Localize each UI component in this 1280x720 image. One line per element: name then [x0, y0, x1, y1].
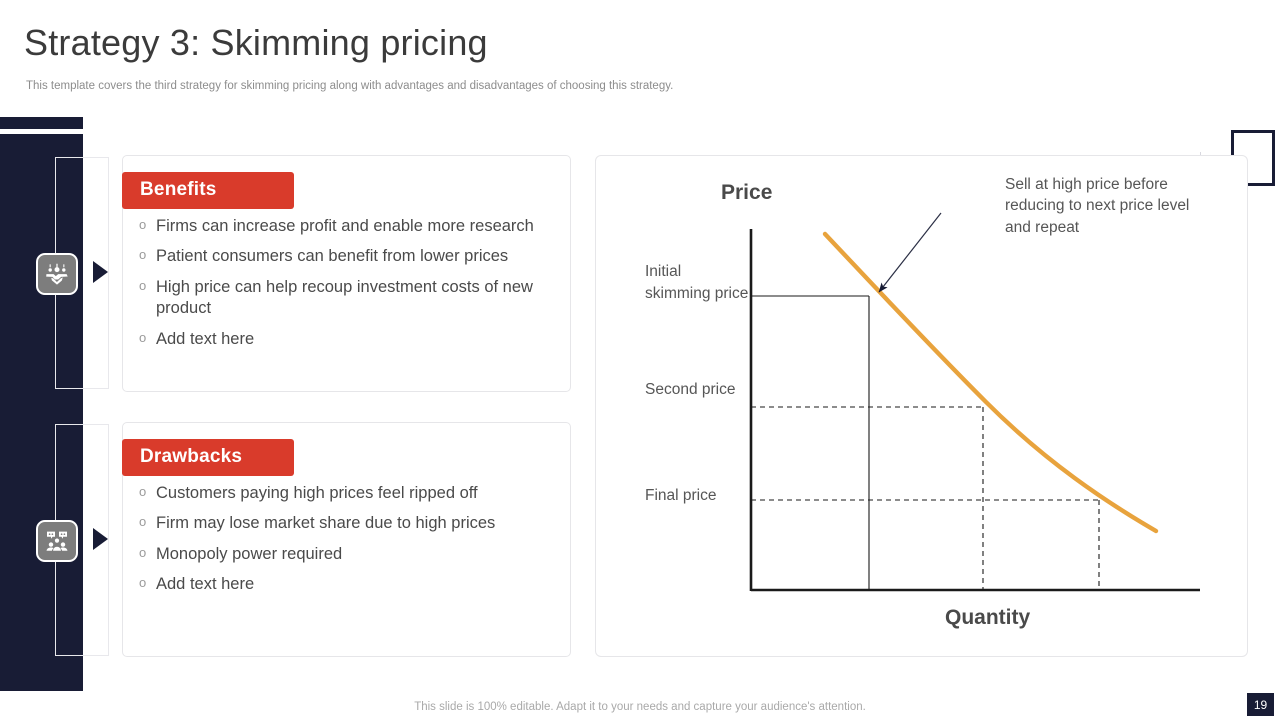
- navy-accent-bar-top: [0, 117, 83, 129]
- page-number-badge: 19: [1247, 693, 1274, 716]
- benefits-bullet-list: o Firms can increase profit and enable m…: [139, 216, 556, 359]
- footer-note: This slide is 100% editable. Adapt it to…: [0, 701, 1280, 713]
- benefits-heading: Benefits: [122, 172, 294, 209]
- list-item[interactable]: o Patient consumers can benefit from low…: [139, 246, 556, 267]
- list-item-label: Firms can increase profit and enable mor…: [156, 216, 556, 237]
- list-item[interactable]: o Monopoly power required: [139, 544, 556, 565]
- sidebar-arrow-benefits: [93, 261, 108, 283]
- bullet-marker-icon: o: [139, 574, 156, 593]
- chart-plot-area: [596, 156, 1247, 656]
- bullet-marker-icon: o: [139, 246, 156, 265]
- list-item-label: Add text here: [156, 329, 556, 350]
- list-item[interactable]: o Add text here: [139, 329, 556, 350]
- page-title: Strategy 3: Skimming pricing: [24, 22, 488, 64]
- handshake-icon[interactable]: [36, 253, 78, 295]
- page-subtitle: This template covers the third strategy …: [26, 80, 673, 92]
- bullet-marker-icon: o: [139, 329, 156, 348]
- chart-annotation-arrow: [879, 213, 941, 292]
- list-item[interactable]: o Add text here: [139, 574, 556, 595]
- list-item-label: Firm may lose market share due to high p…: [156, 513, 556, 534]
- list-item[interactable]: o High price can help recoup investment …: [139, 277, 556, 320]
- list-item-label: Add text here: [156, 574, 556, 595]
- list-item[interactable]: o Firms can increase profit and enable m…: [139, 216, 556, 237]
- bullet-marker-icon: o: [139, 483, 156, 502]
- list-item-label: High price can help recoup investment co…: [156, 277, 556, 320]
- benefits-card: Benefits o Firms can increase profit and…: [122, 155, 571, 392]
- drawbacks-bullet-list: o Customers paying high prices feel ripp…: [139, 483, 556, 605]
- bullet-marker-icon: o: [139, 216, 156, 235]
- list-item[interactable]: o Firm may lose market share due to high…: [139, 513, 556, 534]
- drawbacks-heading: Drawbacks: [122, 439, 294, 476]
- bullet-marker-icon: o: [139, 277, 156, 296]
- bullet-marker-icon: o: [139, 513, 156, 532]
- bullet-marker-icon: o: [139, 544, 156, 563]
- sidebar-arrow-drawbacks: [93, 528, 108, 550]
- list-item-label: Customers paying high prices feel ripped…: [156, 483, 556, 504]
- list-item[interactable]: o Customers paying high prices feel ripp…: [139, 483, 556, 504]
- list-item-label: Patient consumers can benefit from lower…: [156, 246, 556, 267]
- drawbacks-card: Drawbacks o Customers paying high prices…: [122, 422, 571, 657]
- skimming-pricing-chart-panel: Price Quantity Initial skimming price Se…: [595, 155, 1248, 657]
- chart-demand-curve: [825, 234, 1156, 531]
- people-group-icon[interactable]: [36, 520, 78, 562]
- list-item-label: Monopoly power required: [156, 544, 556, 565]
